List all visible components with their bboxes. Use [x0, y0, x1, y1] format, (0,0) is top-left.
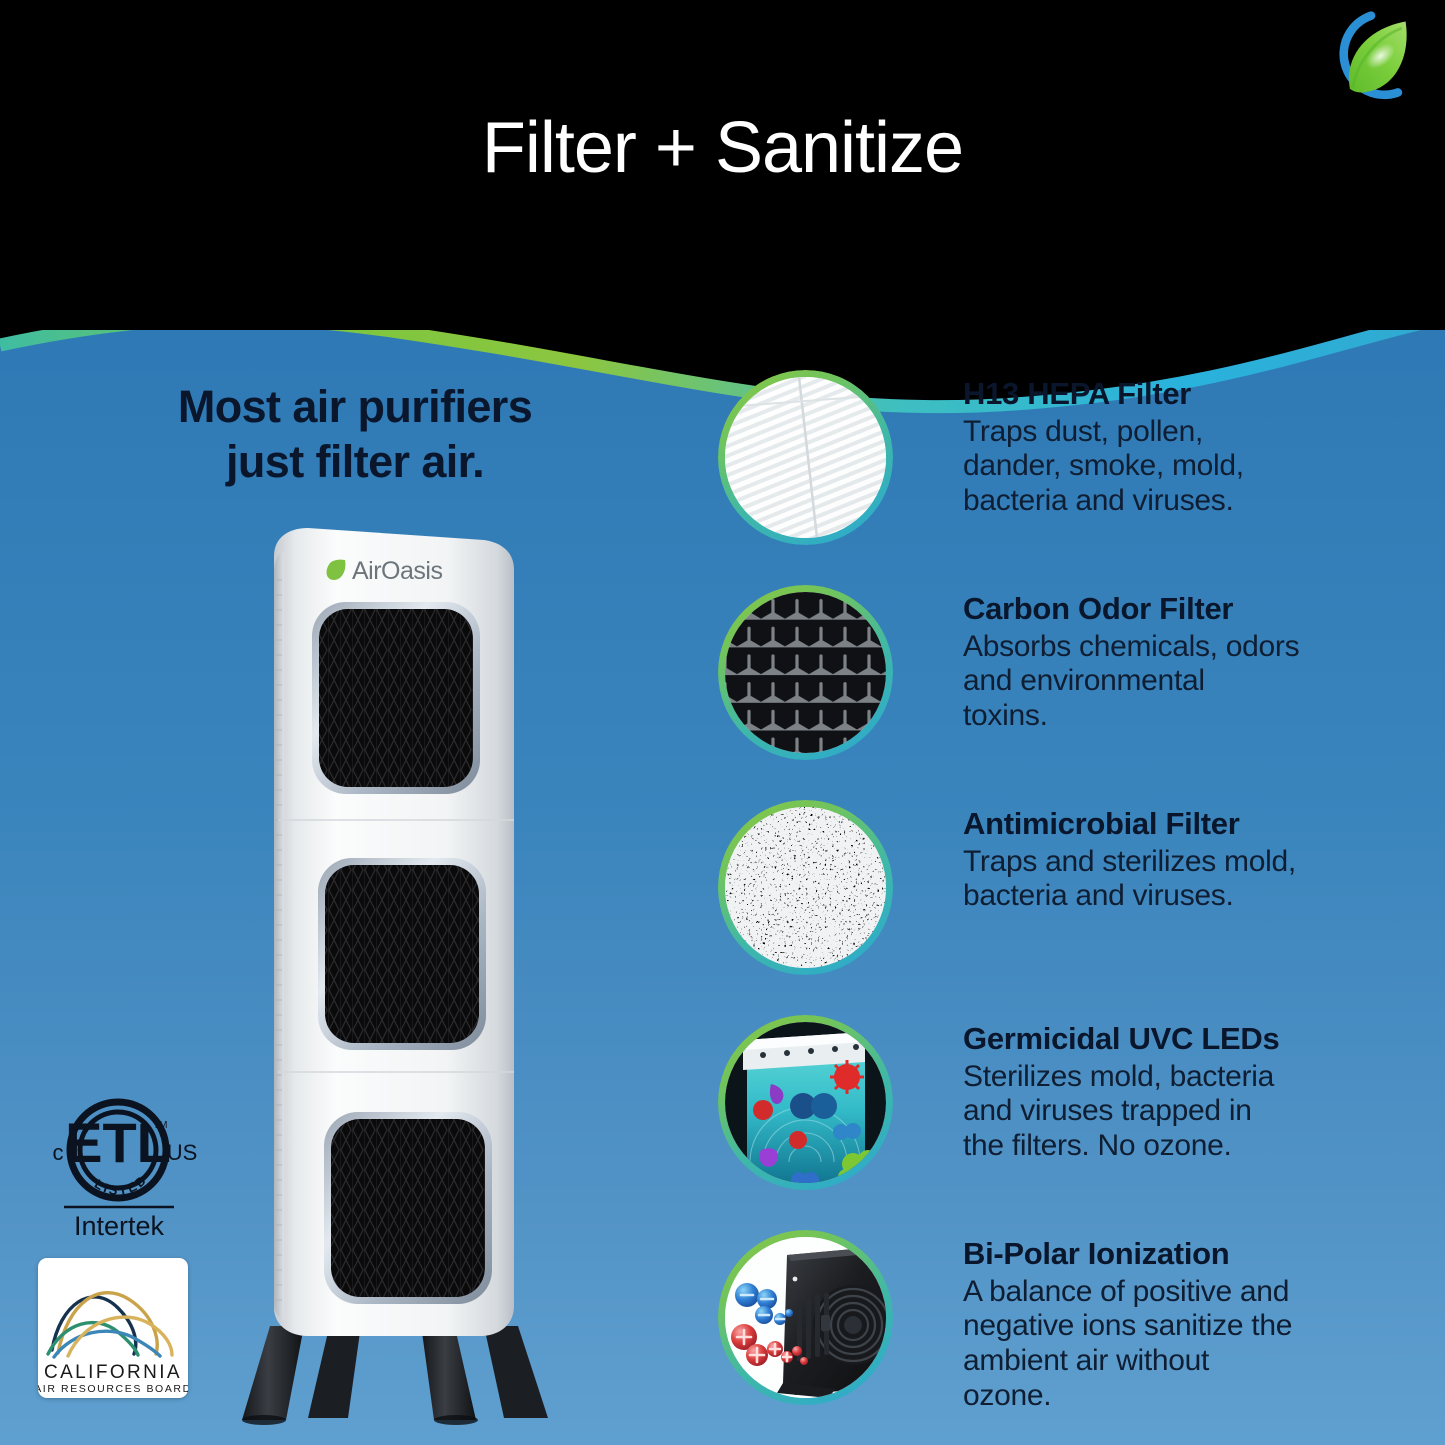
feature-row-ionization: Bi-Polar Ionization A balance of positiv… [718, 1230, 1418, 1445]
bipolar-ionization-icon [718, 1230, 893, 1405]
device-legs [242, 1326, 548, 1425]
feature-row-antimicrobial: Antimicrobial Filter Traps and sterilize… [718, 800, 1418, 1015]
carb-certification-badge: CALIFORNIA AIR RESOURCES BOARD [38, 1258, 188, 1398]
device-vent-panel-1 [312, 602, 480, 794]
feature-title: Bi-Polar Ionization [963, 1236, 1418, 1273]
antimicrobial-filter-icon [718, 800, 893, 975]
feature-title: Carbon Odor Filter [963, 591, 1418, 628]
feature-title: Germicidal UVC LEDs [963, 1021, 1418, 1058]
carb-line1-text: CALIFORNIA [44, 1362, 182, 1383]
feature-title: Antimicrobial Filter [963, 806, 1418, 843]
feature-body: A balance of positive and negative ions … [963, 1275, 1418, 1414]
carbon-filter-icon [718, 585, 893, 760]
etl-tm-text: TM [153, 1120, 167, 1131]
etl-company-text: Intertek [74, 1211, 165, 1241]
airoasis-leaf-logo-icon [1323, 8, 1419, 104]
svg-text:AirOasis: AirOasis [352, 557, 442, 585]
air-purifier-device: AirOasis [208, 520, 568, 1440]
etl-us-text: US [167, 1140, 198, 1165]
device-vent-panel-3 [324, 1112, 492, 1304]
feature-title: H13 HEPA Filter [963, 376, 1418, 413]
feature-body: Sterilizes mold, bacteria and viruses tr… [963, 1060, 1418, 1164]
feature-list: H13 HEPA Filter Traps dust, pollen, dand… [718, 370, 1418, 1445]
left-headline: Most air purifiers just filter air. [60, 380, 650, 490]
carb-line2-text: AIR RESOURCES BOARD [38, 1383, 188, 1395]
feature-row-carbon: Carbon Odor Filter Absorbs chemicals, od… [718, 585, 1418, 800]
feature-body: Traps and sterilizes mold, bacteria and … [963, 845, 1418, 915]
feature-row-uvc: Germicidal UVC LEDs Sterilizes mold, bac… [718, 1015, 1418, 1230]
feature-body: Traps dust, pollen, dander, smoke, mold,… [963, 415, 1418, 519]
etl-listed-badge: ETL TM c US LISTED Intertek [36, 1092, 201, 1242]
feature-body: Absorbs chemicals, odors and environment… [963, 630, 1418, 734]
etl-c-text: c [53, 1140, 64, 1165]
device-vent-panel-2 [318, 858, 486, 1050]
hepa-filter-icon [718, 370, 893, 545]
header-bar: Filter + Sanitize [0, 0, 1445, 330]
page-title: Filter + Sanitize [0, 112, 1445, 184]
uvc-led-icon [718, 1015, 893, 1190]
feature-row-hepa: H13 HEPA Filter Traps dust, pollen, dand… [718, 370, 1418, 585]
infographic-page: Filter + Sanitize Most air purifiers jus… [0, 0, 1445, 1445]
